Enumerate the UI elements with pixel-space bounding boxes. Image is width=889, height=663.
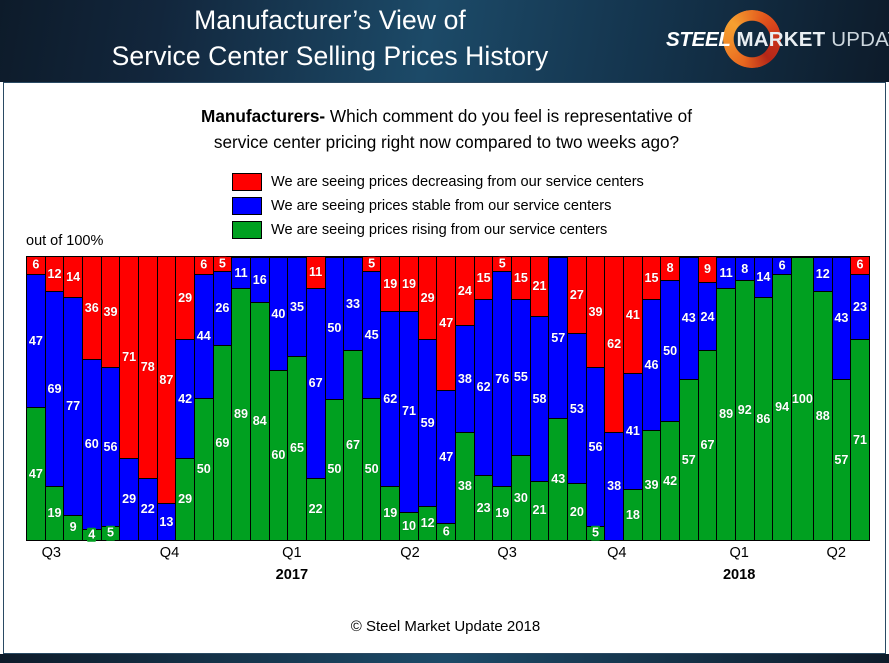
survey-question: Manufacturers- Which comment do you feel… <box>64 103 829 155</box>
question-line-1-rest: Which comment do you feel is representat… <box>325 106 692 126</box>
chart-bar: 1684 <box>251 257 270 540</box>
bar-segment-blue: 60 <box>83 359 101 529</box>
bar-value-label: 5 <box>218 257 227 272</box>
bar-segment-green: 9 <box>64 515 82 540</box>
bar-segment-green: 43 <box>549 418 567 540</box>
bar-value-label: 15 <box>477 272 491 285</box>
bar-segment-blue: 47 <box>27 274 45 407</box>
bar-value-label: 13 <box>159 516 173 529</box>
bar-value-label: 58 <box>533 393 547 406</box>
legend-swatch-decreasing <box>232 173 262 191</box>
bar-segment-red: 87 <box>158 257 176 503</box>
bar-segment-green: 57 <box>680 379 698 540</box>
bar-segment-blue: 16 <box>251 257 269 302</box>
legend-item-rising: We are seeing prices rising from our ser… <box>232 219 702 241</box>
bar-value-label: 12 <box>421 517 435 530</box>
bar-value-label: 56 <box>589 441 603 454</box>
chart-legend: We are seeing prices decreasing from our… <box>232 171 702 243</box>
bar-segment-blue: 41 <box>624 373 642 489</box>
bar-segment-blue: 57 <box>549 257 567 418</box>
bar-value-label: 40 <box>271 308 285 321</box>
bar-segment-blue: 11 <box>232 257 250 288</box>
bar-segment-red: 47 <box>437 257 455 390</box>
chart-bar: 196219 <box>381 257 400 540</box>
x-axis-quarter-label: Q3 <box>497 545 516 561</box>
chart-bar: 197110 <box>400 257 419 540</box>
chart-bar: 85042 <box>661 257 680 540</box>
x-axis-quarter-label: Q1 <box>282 545 301 561</box>
bar-segment-blue: 50 <box>661 280 679 422</box>
bar-value-label: 19 <box>47 507 61 520</box>
bar-segment-blue: 58 <box>531 316 549 480</box>
bar-segment-blue: 69 <box>46 291 64 486</box>
logo-word-update: UPDATE <box>825 28 889 51</box>
chart-bar: 694 <box>773 257 792 540</box>
chart-bar: 116722 <box>307 257 326 540</box>
bar-value-label: 44 <box>197 330 211 343</box>
bar-value-label: 55 <box>514 371 528 384</box>
logo-wordmark: STEEL MARKET UPDATE <box>666 27 889 53</box>
bar-value-label: 5 <box>106 526 115 541</box>
bar-value-label: 19 <box>495 507 509 520</box>
bar-segment-green: 20 <box>568 483 586 540</box>
chart-bar: 1486 <box>755 257 774 540</box>
bar-segment-red: 15 <box>475 257 493 299</box>
chart-bar: 39565 <box>587 257 606 540</box>
bar-value-label: 76 <box>495 373 509 386</box>
bar-segment-blue: 45 <box>363 271 381 398</box>
chart-bar: 5050 <box>326 257 345 540</box>
bar-value-label: 60 <box>271 449 285 462</box>
bar-segment-green: 30 <box>512 455 530 540</box>
chart-bar: 3565 <box>288 257 307 540</box>
bar-value-label: 12 <box>816 268 830 281</box>
x-axis-quarter-label: Q3 <box>42 545 61 561</box>
bar-segment-green: 12 <box>419 506 437 540</box>
bar-value-label: 43 <box>834 312 848 325</box>
bar-segment-green: 50 <box>326 399 344 541</box>
bar-value-label: 36 <box>85 302 99 315</box>
bar-segment-red: 6 <box>851 257 869 274</box>
bar-value-label: 89 <box>234 408 248 421</box>
bar-value-label: 41 <box>626 309 640 322</box>
page-title-line-2: Service Center Selling Prices History <box>0 38 660 74</box>
bar-segment-green: 21 <box>531 481 549 540</box>
legend-label-decreasing: We are seeing prices decreasing from our… <box>271 174 644 190</box>
bar-segment-blue: 29 <box>120 458 138 540</box>
bar-segment-blue: 62 <box>381 311 399 486</box>
bar-segment-blue: 71 <box>400 311 418 512</box>
bar-segment-green: 4 <box>83 529 101 540</box>
bar-segment-red: 39 <box>587 257 605 367</box>
chart-bar: 155530 <box>512 257 531 540</box>
bar-segment-red: 5 <box>493 257 511 271</box>
bar-segment-red: 6 <box>195 257 213 274</box>
bar-value-label: 41 <box>626 425 640 438</box>
bar-value-label: 4 <box>87 528 96 543</box>
bar-segment-green: 100 <box>792 257 813 540</box>
bar-value-label: 67 <box>346 439 360 452</box>
x-axis-quarter-label: Q4 <box>160 545 179 561</box>
bar-segment-blue: 76 <box>493 271 511 486</box>
bar-value-label: 29 <box>122 493 136 506</box>
bar-segment-blue: 53 <box>568 333 586 483</box>
bar-value-label: 45 <box>365 329 379 342</box>
bar-value-label: 15 <box>514 272 528 285</box>
bar-value-label: 19 <box>402 278 416 291</box>
bar-segment-blue: 38 <box>456 325 474 433</box>
logo-word-steel: STEEL <box>666 28 731 51</box>
chart-bar: 39565 <box>102 257 121 540</box>
x-axis-quarter-label: Q2 <box>400 545 419 561</box>
bar-segment-green: 38 <box>456 432 474 540</box>
bar-value-label: 47 <box>29 468 43 481</box>
bar-segment-red: 39 <box>102 257 120 367</box>
bar-value-label: 20 <box>570 506 584 519</box>
bar-segment-green: 42 <box>661 421 679 540</box>
bar-value-label: 21 <box>533 280 547 293</box>
bar-segment-green: 92 <box>736 280 754 540</box>
chart-bar: 8713 <box>158 257 177 540</box>
bar-segment-blue: 67 <box>307 288 325 478</box>
title-banner: Manufacturer’s View of Service Center Se… <box>0 0 889 82</box>
content-panel: Manufacturers- Which comment do you feel… <box>3 82 886 654</box>
bar-segment-blue: 33 <box>344 257 362 350</box>
bar-value-label: 46 <box>644 359 658 372</box>
bar-segment-green: 22 <box>307 478 325 540</box>
question-lead-bold: Manufacturers- <box>201 106 325 126</box>
bar-value-label: 69 <box>47 383 61 396</box>
bar-segment-green: 5 <box>587 526 605 540</box>
bar-value-label: 67 <box>309 377 323 390</box>
bar-value-label: 29 <box>421 292 435 305</box>
bar-value-label: 69 <box>215 437 229 450</box>
bar-value-label: 42 <box>178 393 192 406</box>
bar-value-label: 62 <box>607 338 621 351</box>
bar-value-label: 14 <box>756 271 770 284</box>
chart-bar: 243838 <box>456 257 475 540</box>
chart-bar: 36604 <box>83 257 102 540</box>
bar-value-label: 47 <box>439 451 453 464</box>
bar-value-label: 43 <box>682 312 696 325</box>
chart-bar: 1189 <box>232 257 251 540</box>
bar-value-label: 29 <box>178 493 192 506</box>
bar-value-label: 24 <box>700 311 714 324</box>
bar-value-label: 18 <box>626 509 640 522</box>
chart-bar: 1189 <box>717 257 736 540</box>
bar-segment-blue: 43 <box>833 257 851 379</box>
bar-segment-red: 11 <box>307 257 325 288</box>
chart-bar: 14779 <box>64 257 83 540</box>
bar-segment-green: 86 <box>755 297 773 540</box>
bar-segment-green: 69 <box>214 345 232 540</box>
bar-value-label: 89 <box>719 408 733 421</box>
chart-bar: 52669 <box>214 257 233 540</box>
bar-segment-blue: 24 <box>699 282 717 350</box>
bar-value-label: 6 <box>778 259 787 274</box>
bar-value-label: 27 <box>570 289 584 302</box>
bar-value-label: 30 <box>514 492 528 505</box>
x-axis-quarter-label: Q4 <box>607 545 626 561</box>
bar-segment-blue: 13 <box>158 503 176 540</box>
x-axis-quarter-label: Q1 <box>729 545 748 561</box>
bar-segment-green: 88 <box>814 291 832 540</box>
bar-value-label: 56 <box>103 441 117 454</box>
bar-segment-green: 71 <box>851 339 869 540</box>
bar-segment-green: 10 <box>400 512 418 540</box>
bar-value-label: 87 <box>159 374 173 387</box>
bar-segment-blue: 42 <box>176 339 194 458</box>
bar-value-label: 67 <box>700 439 714 452</box>
bar-value-label: 6 <box>442 525 451 540</box>
chart-bar: 6238 <box>605 257 624 540</box>
chart-bar: 3367 <box>344 257 363 540</box>
bar-segment-green: 94 <box>773 274 791 540</box>
chart-bar: 1288 <box>814 257 833 540</box>
bar-value-label: 59 <box>421 417 435 430</box>
bar-value-label: 57 <box>682 454 696 467</box>
bar-segment-green: 89 <box>232 288 250 540</box>
chart-bar: 215821 <box>531 257 550 540</box>
bar-value-label: 47 <box>29 335 43 348</box>
bar-segment-red: 14 <box>64 257 82 297</box>
x-axis: Q3Q4Q12017Q2Q3Q4Q12018Q2 <box>26 545 870 605</box>
bar-segment-green: 39 <box>643 430 661 540</box>
bar-segment-blue: 11 <box>717 257 735 288</box>
bar-segment-red: 21 <box>531 257 549 316</box>
bar-value-label: 29 <box>178 292 192 305</box>
bar-segment-green: 67 <box>699 350 717 540</box>
bar-value-label: 94 <box>775 401 789 414</box>
legend-swatch-stable <box>232 197 262 215</box>
bar-segment-red: 29 <box>176 257 194 339</box>
chart-bar: 126919 <box>46 257 65 540</box>
bar-value-label: 38 <box>458 480 472 493</box>
bar-value-label: 11 <box>309 266 322 279</box>
legend-label-stable: We are seeing prices stable from our ser… <box>271 198 611 214</box>
legend-label-rising: We are seeing prices rising from our ser… <box>271 222 607 238</box>
chart-bar: 154639 <box>643 257 662 540</box>
bar-value-label: 47 <box>439 317 453 330</box>
bar-value-label: 39 <box>644 479 658 492</box>
bar-value-label: 16 <box>253 274 267 287</box>
legend-swatch-rising <box>232 221 262 239</box>
bar-value-label: 38 <box>607 480 621 493</box>
bar-value-label: 62 <box>383 393 397 406</box>
steel-market-update-logo: STEEL MARKET UPDATE <box>666 4 889 76</box>
bar-segment-green: 57 <box>833 379 851 540</box>
bar-value-label: 50 <box>365 463 379 476</box>
bar-segment-green: 6 <box>437 523 455 540</box>
bar-value-label: 38 <box>458 373 472 386</box>
bar-value-label: 60 <box>85 438 99 451</box>
chart-bar: 47476 <box>437 257 456 540</box>
bar-value-label: 8 <box>667 262 674 275</box>
bar-segment-red: 8 <box>661 257 679 280</box>
bar-value-label: 15 <box>644 272 658 285</box>
bar-value-label: 10 <box>402 520 416 533</box>
chart-bar: 92467 <box>699 257 718 540</box>
bar-segment-red: 15 <box>643 257 661 299</box>
chart-bar: 54550 <box>363 257 382 540</box>
bar-value-label: 86 <box>756 413 770 426</box>
bar-segment-blue: 26 <box>214 271 232 345</box>
bar-value-label: 9 <box>70 521 77 534</box>
bar-value-label: 19 <box>383 507 397 520</box>
bar-value-label: 21 <box>533 504 547 517</box>
bar-segment-green: 65 <box>288 356 306 540</box>
bar-value-label: 14 <box>66 271 80 284</box>
bar-value-label: 88 <box>816 410 830 423</box>
bar-segment-green: 67 <box>344 350 362 540</box>
bar-segment-blue: 38 <box>605 432 623 540</box>
bar-segment-green: 19 <box>46 486 64 540</box>
bar-segment-blue: 22 <box>139 478 157 540</box>
bar-segment-blue: 12 <box>814 257 832 291</box>
bar-value-label: 78 <box>141 361 155 374</box>
bar-segment-red: 71 <box>120 257 138 458</box>
bar-value-label: 84 <box>253 415 267 428</box>
chart-bar: 7129 <box>120 257 139 540</box>
bar-segment-red: 27 <box>568 257 586 333</box>
bar-value-label: 5 <box>498 257 507 272</box>
bar-segment-blue: 35 <box>288 257 306 356</box>
bar-segment-red: 15 <box>512 257 530 299</box>
bar-segment-blue: 47 <box>437 390 455 523</box>
bar-value-label: 50 <box>197 463 211 476</box>
bar-value-label: 39 <box>103 306 117 319</box>
bar-segment-green: 89 <box>717 288 735 540</box>
chart-bar: 294229 <box>176 257 195 540</box>
bar-value-label: 53 <box>570 403 584 416</box>
bar-value-label: 77 <box>66 400 80 413</box>
legend-item-stable: We are seeing prices stable from our ser… <box>232 195 702 217</box>
bar-segment-red: 62 <box>605 257 623 432</box>
bar-value-label: 24 <box>458 285 472 298</box>
bar-segment-red: 29 <box>419 257 437 339</box>
bar-value-label: 43 <box>551 473 565 486</box>
y-axis-note: out of 100% <box>26 233 103 249</box>
bar-segment-blue: 43 <box>680 257 698 379</box>
bar-value-label: 6 <box>199 258 208 273</box>
bar-segment-blue: 14 <box>755 257 773 297</box>
bar-value-label: 6 <box>31 258 40 273</box>
bar-segment-blue: 59 <box>419 339 437 506</box>
bar-segment-blue: 23 <box>851 274 869 339</box>
chart-bar: 100 <box>792 257 814 540</box>
bar-segment-red: 12 <box>46 257 64 291</box>
bar-value-label: 100 <box>792 393 813 406</box>
bar-value-label: 57 <box>834 454 848 467</box>
bar-segment-blue: 62 <box>475 299 493 474</box>
bar-segment-blue: 55 <box>512 299 530 455</box>
bar-segment-blue: 40 <box>270 257 288 370</box>
bar-segment-blue: 77 <box>64 297 82 515</box>
question-line-2: service center pricing right now compare… <box>64 129 829 155</box>
bar-segment-green: 50 <box>363 398 381 540</box>
bar-segment-red: 9 <box>699 257 717 282</box>
bar-value-label: 39 <box>589 306 603 319</box>
bar-value-label: 8 <box>741 263 748 276</box>
chart-bar: 275320 <box>568 257 587 540</box>
chart-plot-area: 6474712691914779366043956571297822871329… <box>26 256 870 541</box>
question-lead: Manufacturers- Which comment do you feel… <box>201 106 692 126</box>
chart-bar: 892 <box>736 257 755 540</box>
bar-value-label: 50 <box>327 322 341 335</box>
chart-bar: 7822 <box>139 257 158 540</box>
bar-value-label: 11 <box>234 267 247 280</box>
bar-segment-blue: 56 <box>587 367 605 525</box>
x-axis-quarter-label: Q2 <box>827 545 846 561</box>
bar-value-label: 5 <box>591 526 600 541</box>
bar-segment-green: 18 <box>624 489 642 540</box>
bar-segment-green: 50 <box>195 398 213 540</box>
bar-value-label: 57 <box>551 332 565 345</box>
bar-segment-green: 19 <box>381 486 399 540</box>
bar-value-label: 9 <box>704 263 711 276</box>
bar-value-label: 35 <box>290 301 304 314</box>
bar-value-label: 22 <box>141 503 155 516</box>
bar-value-label: 23 <box>853 301 867 314</box>
copyright-text: © Steel Market Update 2018 <box>4 618 887 635</box>
bar-segment-blue: 46 <box>643 299 661 429</box>
bar-segment-green: 5 <box>102 526 120 540</box>
chart-bar: 57619 <box>493 257 512 540</box>
chart-bar: 295912 <box>419 257 438 540</box>
bar-value-label: 42 <box>663 475 677 488</box>
bar-value-label: 26 <box>215 302 229 315</box>
bar-segment-blue: 8 <box>736 257 754 280</box>
bar-value-label: 5 <box>367 257 376 272</box>
bar-value-label: 23 <box>477 502 491 515</box>
bar-value-label: 11 <box>719 267 732 280</box>
page-title: Manufacturer’s View of Service Center Se… <box>0 2 660 74</box>
bar-value-label: 22 <box>309 503 323 516</box>
bar-segment-red: 19 <box>381 257 399 311</box>
bar-value-label: 62 <box>477 381 491 394</box>
bar-segment-red: 24 <box>456 257 474 325</box>
slide-root: Manufacturer’s View of Service Center Se… <box>0 0 889 663</box>
chart-bar: 4357 <box>833 257 852 540</box>
chart-bar: 414118 <box>624 257 643 540</box>
x-axis-year-label: 2017 <box>276 567 308 583</box>
bar-segment-blue: 50 <box>326 257 344 399</box>
bar-segment-red: 5 <box>363 257 381 271</box>
chart-bar: 156223 <box>475 257 494 540</box>
chart-bar: 4357 <box>680 257 699 540</box>
bar-segment-green: 60 <box>270 370 288 540</box>
stacked-bar-chart: 6474712691914779366043956571297822871329… <box>26 256 870 541</box>
bar-value-label: 71 <box>853 434 867 447</box>
bar-segment-blue: 56 <box>102 367 120 525</box>
chart-bar: 64450 <box>195 257 214 540</box>
chart-bar: 62371 <box>851 257 869 540</box>
bar-segment-blue: 44 <box>195 274 213 399</box>
bar-segment-red: 19 <box>400 257 418 311</box>
bar-segment-green: 29 <box>176 458 194 540</box>
bar-value-label: 71 <box>122 351 136 364</box>
bar-segment-red: 41 <box>624 257 642 373</box>
bar-value-label: 50 <box>327 463 341 476</box>
bar-value-label: 19 <box>383 278 397 291</box>
bar-value-label: 6 <box>856 258 865 273</box>
logo-word-market: MARKET <box>731 28 826 51</box>
bar-segment-green: 19 <box>493 486 511 540</box>
bar-segment-blue: 6 <box>773 257 791 274</box>
bar-value-label: 12 <box>47 268 61 281</box>
bar-segment-red: 36 <box>83 257 101 359</box>
bar-value-label: 33 <box>346 298 360 311</box>
